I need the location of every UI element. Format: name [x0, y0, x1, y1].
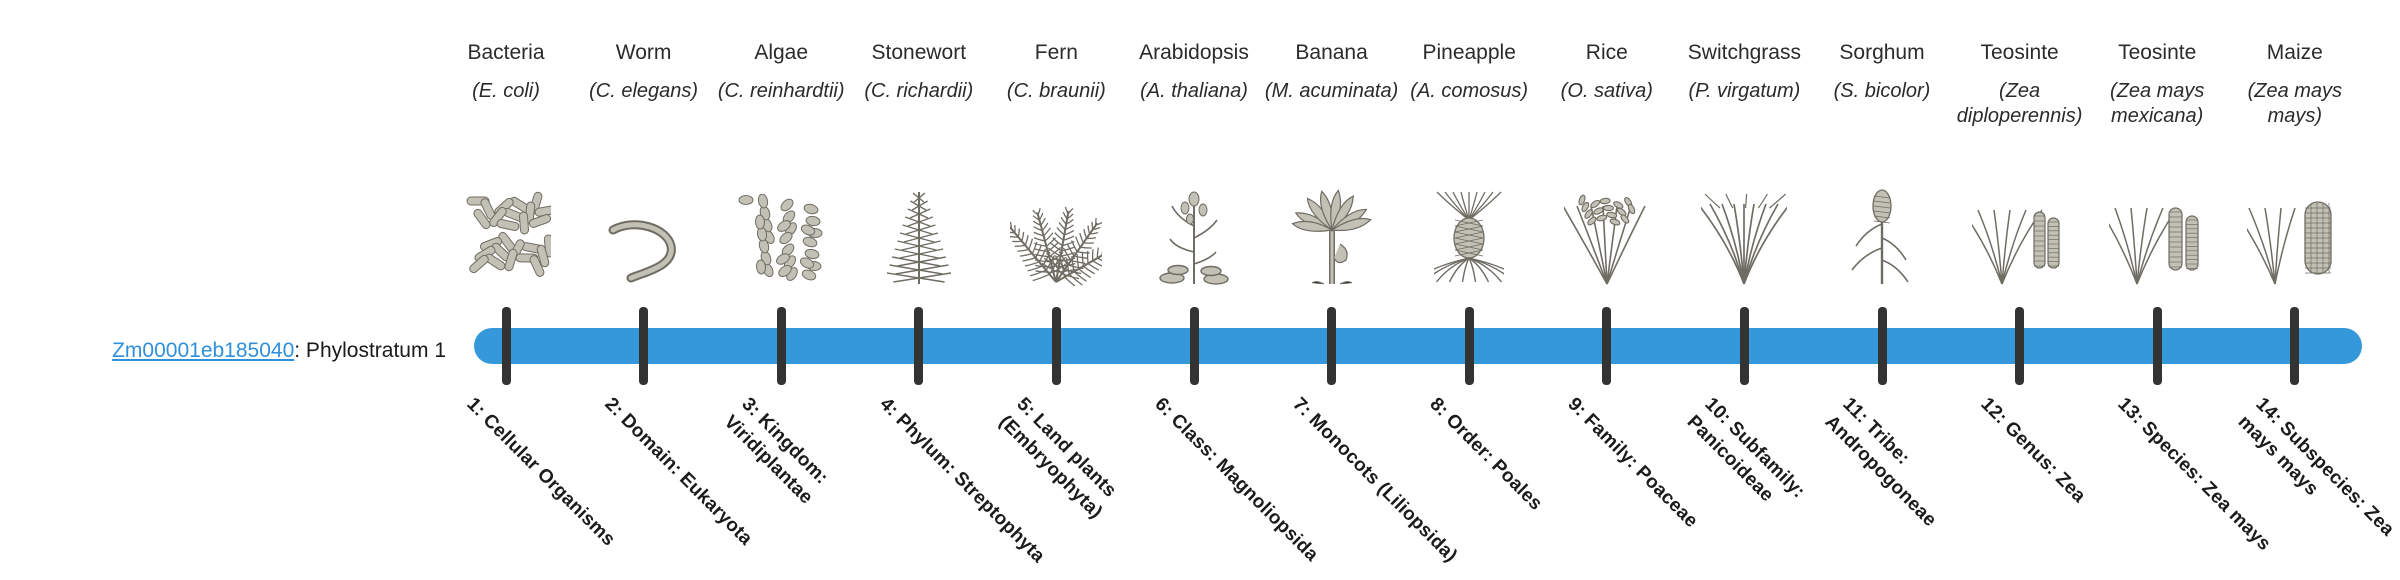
- phylostratum-tick[interactable]: [2015, 307, 2024, 385]
- phylostratum-tick[interactable]: [777, 307, 786, 385]
- species-common-name: Fern: [987, 40, 1125, 66]
- species-common-name: Teosinte: [2088, 40, 2226, 66]
- species-column: Banana(M. acuminata): [1263, 0, 1401, 104]
- species-common-name: Worm: [575, 40, 713, 66]
- sorghum-icon: [1813, 168, 1951, 286]
- species-column: Maize(Zea mays mays): [2226, 0, 2364, 129]
- phylostratum-tick[interactable]: [914, 307, 923, 385]
- algae-icon: [712, 168, 850, 286]
- pineapple-icon: [1400, 168, 1538, 286]
- gene-phylostratum-label: Zm00001eb185040: Phylostratum 1: [0, 338, 460, 363]
- species-column: Teosinte(Zea diploperennis): [1951, 0, 2089, 129]
- species-scientific-name: (A. comosus): [1400, 79, 1538, 104]
- species-scientific-name: (P. virgatum): [1675, 79, 1813, 104]
- species-common-name: Sorghum: [1813, 40, 1951, 66]
- species-scientific-name: (C. richardii): [850, 79, 988, 104]
- species-column: Algae(C. reinhardtii): [712, 0, 850, 104]
- phylostratum-tick[interactable]: [639, 307, 648, 385]
- species-scientific-name: (S. bicolor): [1813, 79, 1951, 104]
- species-scientific-name: (Zea mays mexicana): [2088, 79, 2226, 129]
- arabidopsis-icon: [1125, 168, 1263, 286]
- phylostratum-tick[interactable]: [1052, 307, 1061, 385]
- species-column: Sorghum(S. bicolor): [1813, 0, 1951, 104]
- species-common-name: Rice: [1538, 40, 1676, 66]
- species-column: Worm(C. elegans): [575, 0, 713, 104]
- bacteria-icon: [437, 168, 575, 286]
- phylostratum-value: : Phylostratum 1: [294, 339, 446, 362]
- species-common-name: Banana: [1263, 40, 1401, 66]
- species-common-name: Arabidopsis: [1125, 40, 1263, 66]
- phylostratum-tick[interactable]: [1878, 307, 1887, 385]
- phylostratum-rank: Order: Poales: [1442, 410, 1547, 515]
- phylostratum-rank: Subfamily: Panicoideae: [1683, 411, 1809, 506]
- species-common-name: Switchgrass: [1675, 40, 1813, 66]
- species-column: Fern(C. braunii): [987, 0, 1125, 104]
- teosinte-mexicana-icon: [2088, 168, 2226, 286]
- phylostratum-tick[interactable]: [1327, 307, 1336, 385]
- species-common-name: Maize: [2226, 40, 2364, 66]
- phylostratum-tick[interactable]: [1190, 307, 1199, 385]
- phylostratum-number: 12:: [1976, 394, 2011, 429]
- species-common-name: Bacteria: [437, 40, 575, 66]
- species-scientific-name: (E. coli): [437, 79, 575, 104]
- phylostratum-bar: [474, 328, 2362, 364]
- phylostratum-tick[interactable]: [1602, 307, 1611, 385]
- phylostratum-rank: Subspecies: Zea mays mays: [2234, 411, 2398, 540]
- phylostratum-rank: Tribe: Andropogoneae: [1821, 411, 1941, 531]
- species-common-name: Algae: [712, 40, 850, 66]
- species-column: Arabidopsis(A. thaliana): [1125, 0, 1263, 104]
- species-column: Bacteria(E. coli): [437, 0, 575, 104]
- species-column: Pineapple(A. comosus): [1400, 0, 1538, 104]
- species-scientific-name: (C. reinhardtii): [712, 79, 850, 104]
- phylostratum-number: 13:: [2114, 394, 2149, 429]
- stonewort-icon: [850, 168, 988, 286]
- banana-icon: [1263, 168, 1401, 286]
- phylostratum-tick[interactable]: [502, 307, 511, 385]
- phylostratum-rank: Land plants (Embryophyta): [995, 410, 1120, 523]
- phylostratum-tick[interactable]: [2290, 307, 2299, 385]
- species-common-name: Pineapple: [1400, 40, 1538, 66]
- teosinte-diplo-icon: [1951, 168, 2089, 286]
- worm-icon: [575, 168, 713, 286]
- gene-id-link[interactable]: Zm00001eb185040: [112, 339, 294, 362]
- phylostratum-rank: Genus: Zea: [2000, 417, 2089, 506]
- species-column: Stonewort(C. richardii): [850, 0, 988, 104]
- species-common-name: Stonewort: [850, 40, 988, 66]
- species-scientific-name: (Zea diploperennis): [1951, 79, 2089, 129]
- phylostratum-rank: Class: Magnoliopsida: [1167, 410, 1323, 566]
- species-column: Switchgrass(P. virgatum): [1675, 0, 1813, 104]
- phylostratum-rank: Kingdom: Viridiplantae: [720, 410, 832, 508]
- species-scientific-name: (Zea mays mays): [2226, 79, 2364, 129]
- phylostratum-rank: Monocots (Liliopsida): [1304, 410, 1461, 567]
- species-column: Rice(O. sativa): [1538, 0, 1676, 104]
- switchgrass-icon: [1675, 168, 1813, 286]
- phylostratum-tick[interactable]: [1465, 307, 1474, 385]
- phylostratigraphy-figure: Zm00001eb185040: Phylostratum 1 Bacteria…: [0, 0, 2400, 580]
- species-scientific-name: (C. elegans): [575, 79, 713, 104]
- species-common-name: Teosinte: [1951, 40, 2089, 66]
- species-column-headers: Bacteria(E. coli) Worm(C. elegans) Algae…: [470, 0, 2370, 300]
- fern-icon: [987, 168, 1125, 286]
- species-scientific-name: (C. braunii): [987, 79, 1125, 104]
- rice-icon: [1538, 168, 1676, 286]
- species-scientific-name: (A. thaliana): [1125, 79, 1263, 104]
- maize-icon: [2226, 168, 2364, 286]
- phylostratum-tick[interactable]: [2153, 307, 2162, 385]
- species-column: Teosinte(Zea mays mexicana): [2088, 0, 2226, 129]
- species-scientific-name: (M. acuminata): [1263, 79, 1401, 104]
- phylostratum-rank: Cellular Organisms: [479, 410, 620, 551]
- phylostratum-tick[interactable]: [1740, 307, 1749, 385]
- species-scientific-name: (O. sativa): [1538, 79, 1676, 104]
